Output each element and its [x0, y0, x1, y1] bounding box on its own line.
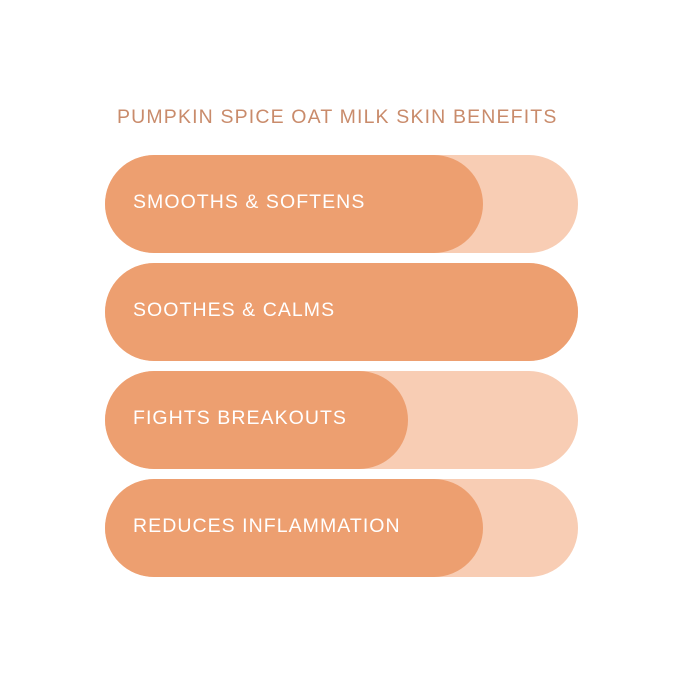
bar-label: FIGHTS BREAKOUTS	[133, 371, 347, 469]
benefit-bar-row: SMOOTHS & SOFTENS	[105, 155, 578, 253]
bar-label: SOOTHES & CALMS	[133, 263, 335, 361]
bar-label: REDUCES INFLAMMATION	[133, 479, 401, 577]
benefit-bar-row: REDUCES INFLAMMATION	[105, 479, 578, 577]
page-title: PUMPKIN SPICE OAT MILK SKIN BENEFITS	[117, 106, 558, 129]
benefit-bar-list: SMOOTHS & SOFTENS SOOTHES & CALMS FIGHTS…	[105, 155, 578, 577]
benefits-infographic: PUMPKIN SPICE OAT MILK SKIN BENEFITS SMO…	[0, 0, 679, 679]
benefit-bar-row: FIGHTS BREAKOUTS	[105, 371, 578, 469]
benefit-bar-row: SOOTHES & CALMS	[105, 263, 578, 361]
bar-label: SMOOTHS & SOFTENS	[133, 155, 365, 253]
